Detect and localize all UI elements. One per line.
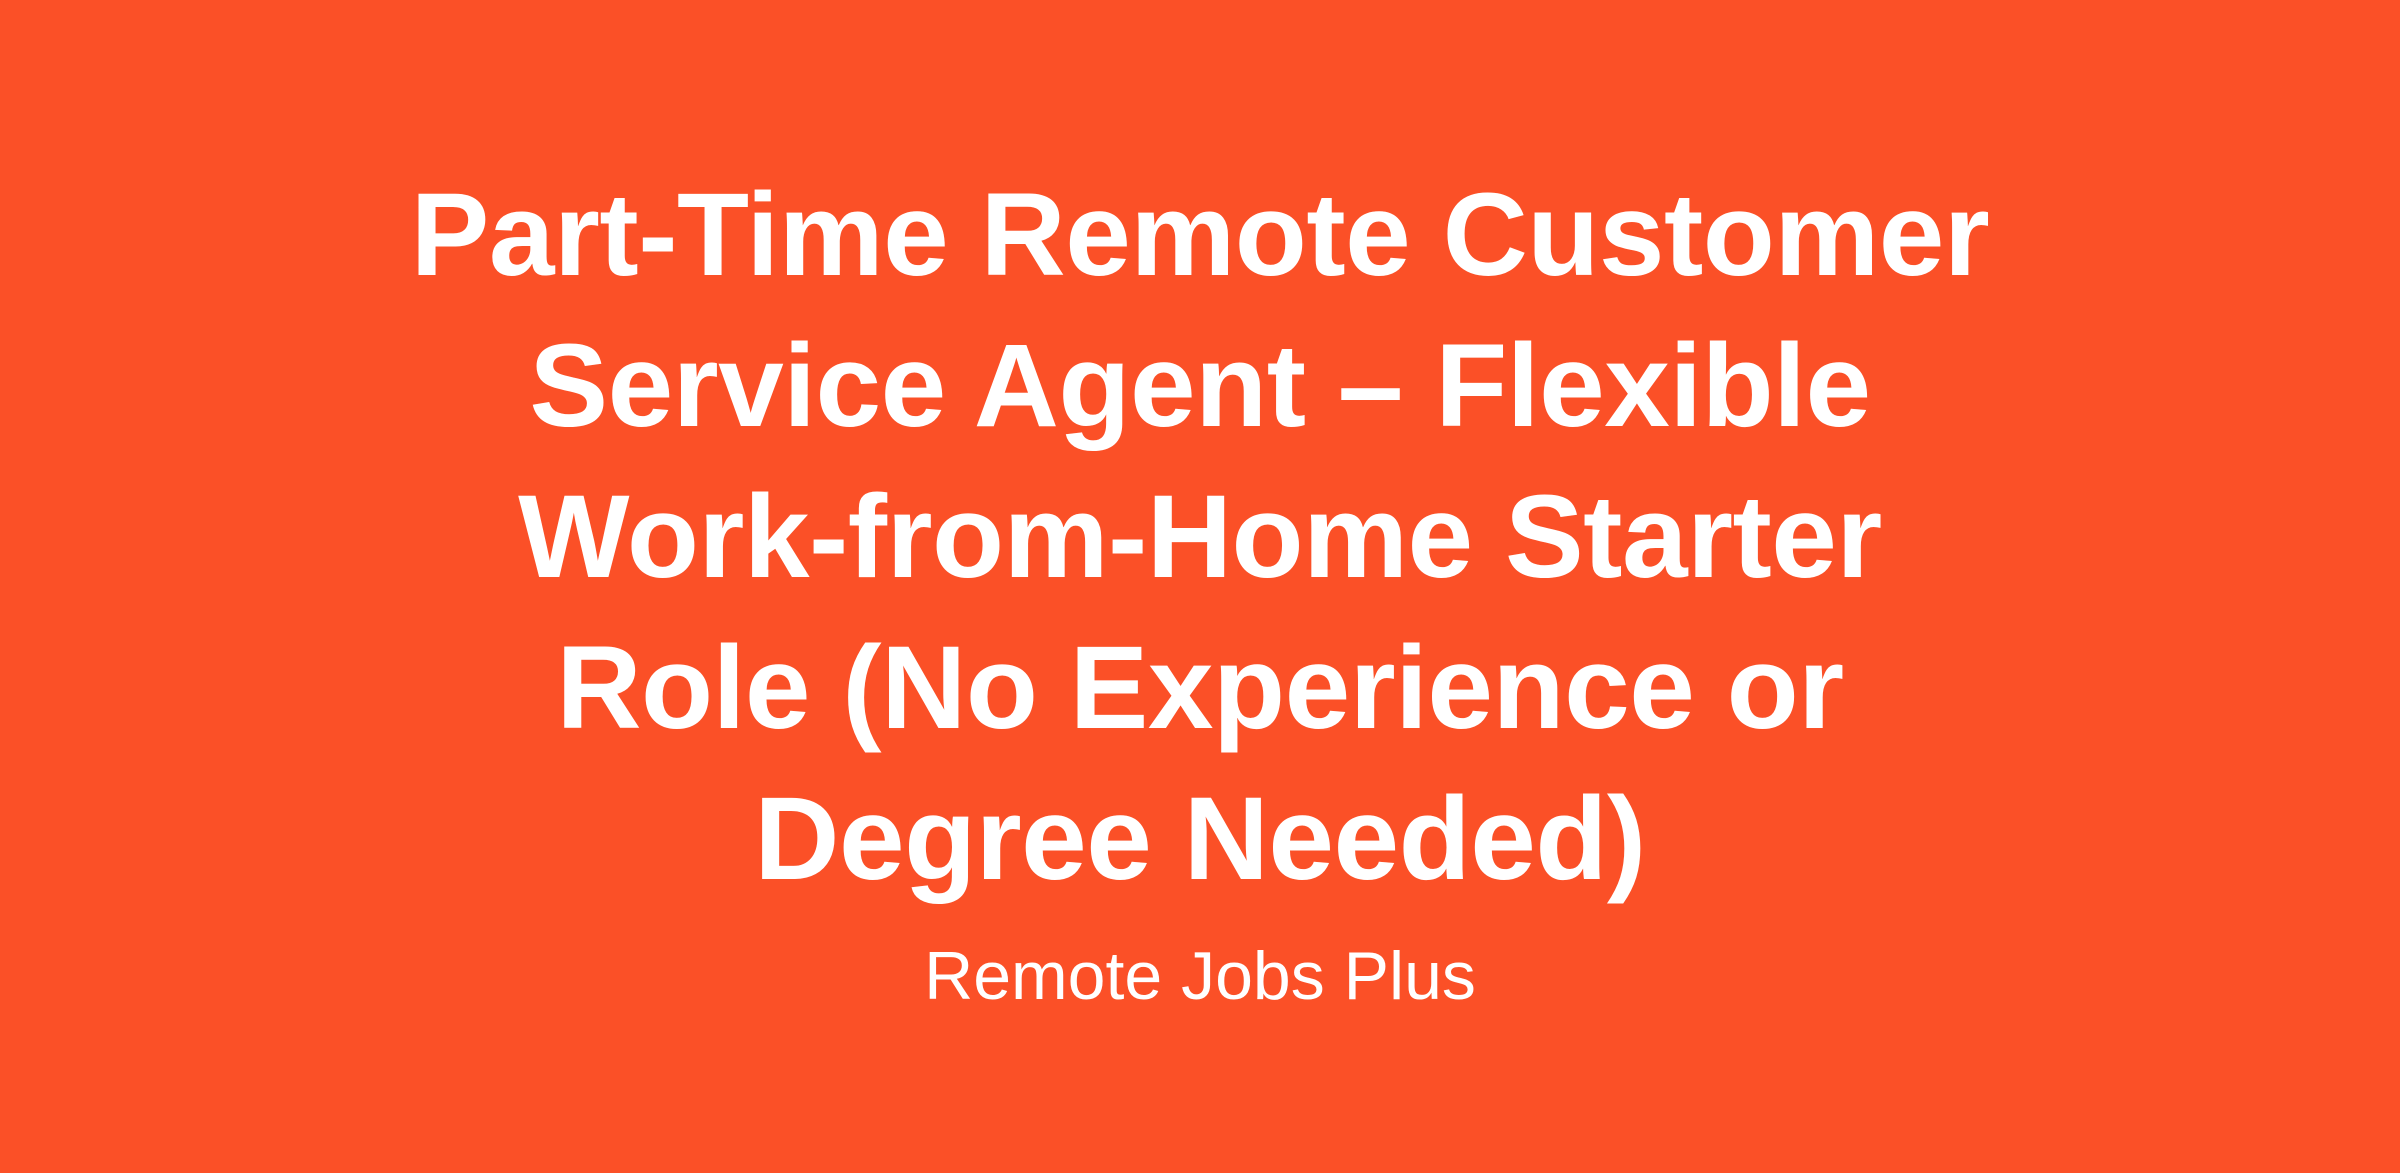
page-title: Part-Time Remote Customer Service Agent … (390, 160, 2010, 915)
job-posting-card: Part-Time Remote Customer Service Agent … (0, 0, 2400, 1173)
site-name: Remote Jobs Plus (924, 933, 1476, 1019)
card-content: Part-Time Remote Customer Service Agent … (380, 0, 2020, 1019)
